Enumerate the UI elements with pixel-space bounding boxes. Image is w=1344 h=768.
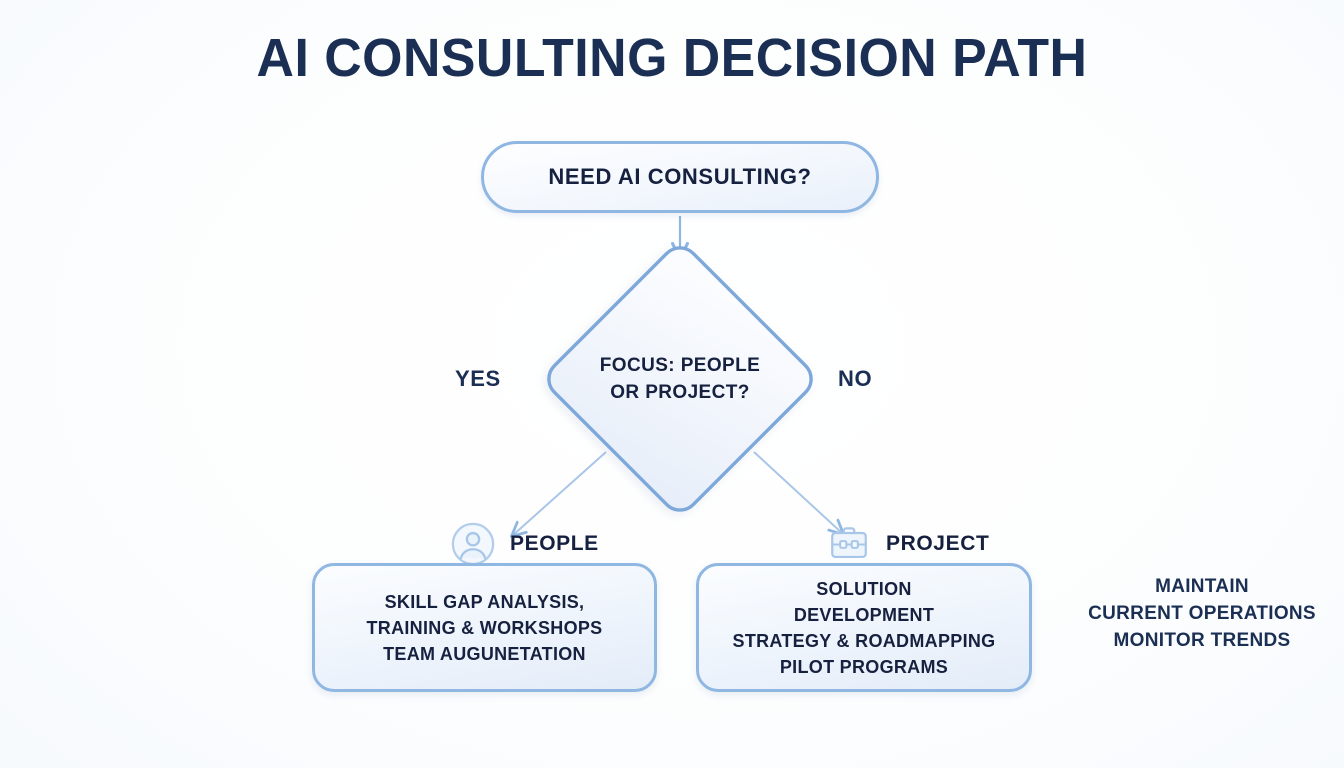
decision-node-line-1: FOCUS: PEOPLE <box>600 352 760 379</box>
outcome-box-people[interactable]: SKILL GAP ANALYSIS, TRAINING & WORKSHOPS… <box>312 563 657 692</box>
outcome-line: MONITOR TRENDS <box>1060 627 1344 654</box>
decision-node-line-2: OR PROJECT? <box>610 379 750 406</box>
category-people-label: PEOPLE <box>510 532 599 556</box>
outcome-box-project-text: SOLUTION DEVELOPMENT STRATEGY & ROADMAPP… <box>733 576 996 680</box>
category-people[interactable]: PEOPLE <box>450 521 599 567</box>
outcome-line: PILOT PROGRAMS <box>733 654 996 680</box>
outcome-text-no-branch: MAINTAIN CURRENT OPERATIONS MONITOR TREN… <box>1060 573 1344 654</box>
branch-label-no: NO <box>838 366 872 392</box>
outcome-box-project[interactable]: SOLUTION DEVELOPMENT STRATEGY & ROADMAPP… <box>696 563 1032 692</box>
briefcase-icon <box>826 521 872 567</box>
start-node-label: NEED AI CONSULTING? <box>548 164 811 190</box>
decision-node[interactable]: FOCUS: PEOPLE OR PROJECT? <box>537 261 823 497</box>
category-project-label: PROJECT <box>886 532 989 556</box>
page-title: AI CONSULTING DECISION PATH <box>27 28 1317 88</box>
category-project[interactable]: PROJECT <box>826 521 989 567</box>
outcome-line: SOLUTION <box>733 576 996 602</box>
outcome-line: DEVELOPMENT <box>733 602 996 628</box>
outcome-line: STRATEGY & ROADMAPPING <box>733 628 996 654</box>
outcome-line: MAINTAIN <box>1060 573 1344 600</box>
outcome-line: CURRENT OPERATIONS <box>1060 600 1344 627</box>
outcome-line: TRAINING & WORKSHOPS <box>366 615 602 641</box>
decision-node-label-group: FOCUS: PEOPLE OR PROJECT? <box>537 261 823 497</box>
outcome-line: TEAM AUGUNETATION <box>366 641 602 667</box>
diagram-canvas: AI CONSULTING DECISION PATH NEED AI CONS… <box>0 0 1344 768</box>
outcome-line: SKILL GAP ANALYSIS, <box>366 589 602 615</box>
branch-label-yes: YES <box>455 366 501 392</box>
start-node[interactable]: NEED AI CONSULTING? <box>481 141 879 213</box>
person-icon <box>450 521 496 567</box>
outcome-box-people-text: SKILL GAP ANALYSIS, TRAINING & WORKSHOPS… <box>366 589 602 667</box>
